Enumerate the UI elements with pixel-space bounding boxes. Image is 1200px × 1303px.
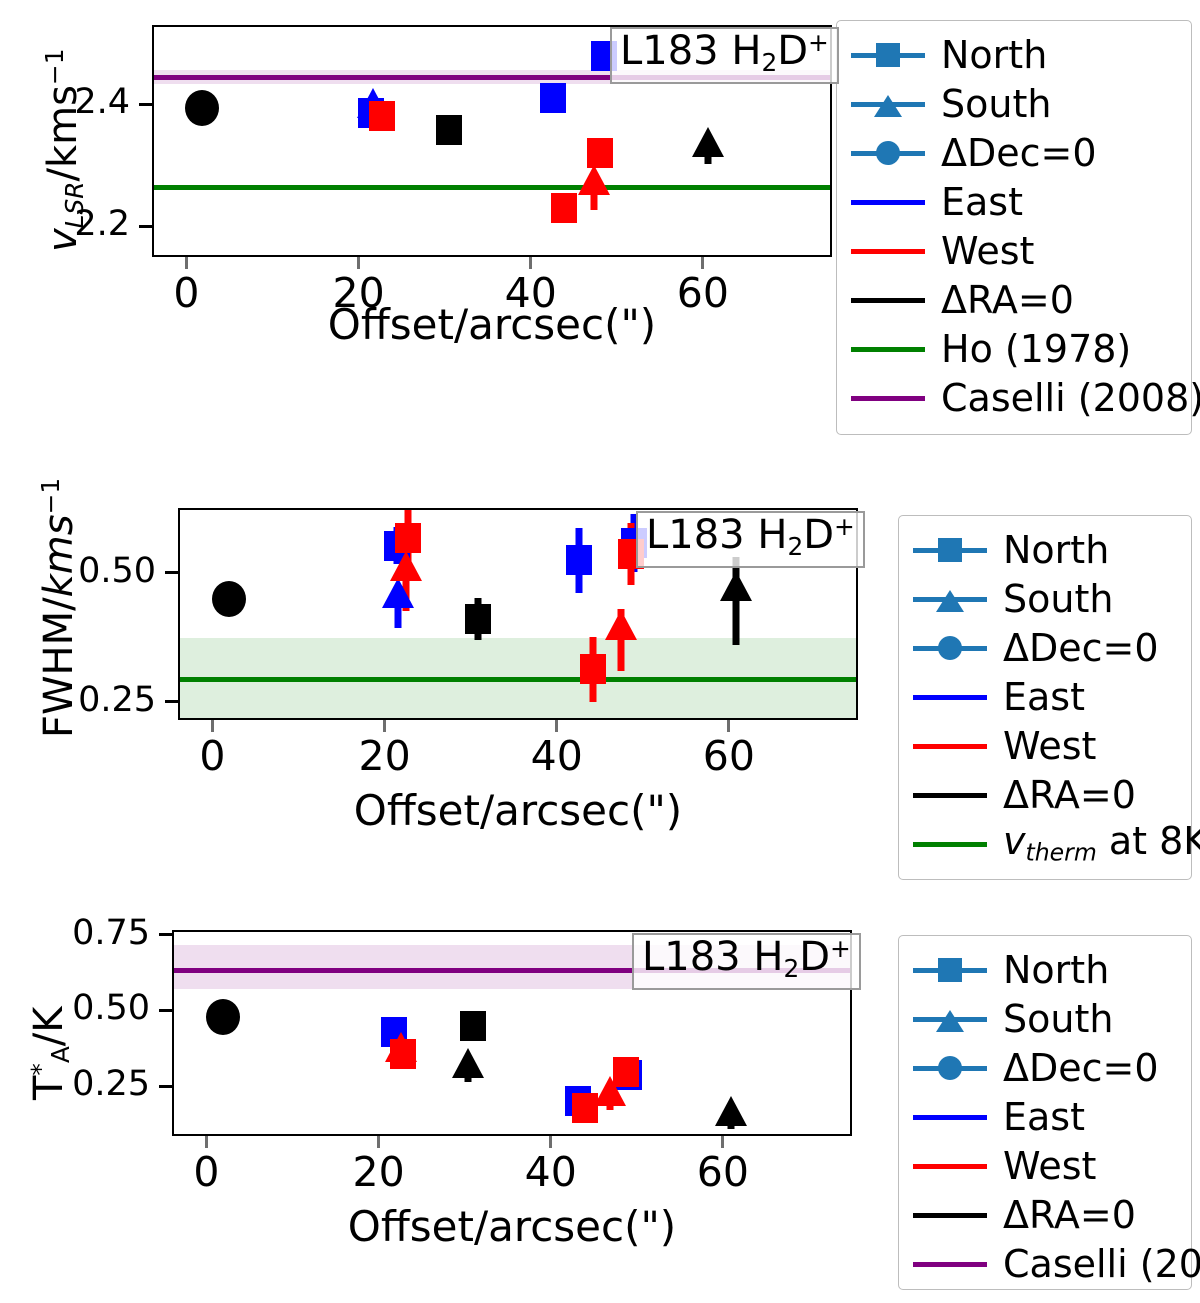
legend-label: ΔRA=0 (941, 281, 1074, 319)
legend-line-swatch (851, 347, 925, 352)
legend-key-west (913, 1151, 987, 1181)
data-point-square (580, 654, 606, 684)
legend-key-north (913, 955, 987, 985)
legend-body: NorthSouthΔDec=0EastWestΔRA=0Caselli (20… (899, 936, 1191, 1288)
legend-key--dec-0 (913, 1053, 987, 1083)
reference-line-v-therm-at-8k (180, 677, 856, 682)
legend-label: Caselli (2008) (941, 379, 1200, 417)
y-tick-mark (159, 933, 172, 936)
data-point-square (436, 115, 462, 145)
legend-label: ΔRA=0 (1003, 776, 1136, 814)
legend-line-swatch (913, 695, 987, 700)
square-marker-icon (938, 538, 962, 562)
x-tick-mark (205, 1136, 208, 1148)
legend-line-swatch (851, 396, 925, 401)
data-point-triangle (578, 165, 610, 195)
legend-line-swatch (913, 1164, 987, 1169)
legend-key-north (913, 535, 987, 565)
panel-annotation-vlsr: L183 H2D+ (610, 27, 839, 84)
x-tick-mark (555, 720, 558, 732)
x-tick-label: 60 (673, 1152, 773, 1193)
x-axis-label-vlsr: Offset/arcsec(") (152, 300, 832, 349)
legend-body: NorthSouthΔDec=0EastWestΔRA=0vtherm at 8… (899, 516, 1191, 868)
figure-root: 2.22.40204060 vLSR/kms−1 Offset/arcsec("… (0, 0, 1200, 1303)
legend-line-swatch (913, 744, 987, 749)
legend-key-east (851, 187, 925, 217)
legend-item-east[interactable]: East (837, 177, 1191, 226)
x-tick-mark (701, 257, 704, 269)
legend-line-swatch (913, 1115, 987, 1120)
legend-label: East (1003, 1098, 1085, 1136)
legend-item--dec-0[interactable]: ΔDec=0 (899, 623, 1191, 672)
legend-item-east[interactable]: East (899, 1092, 1191, 1141)
y-tick-label: 0.75 (0, 916, 150, 951)
x-tick-mark (721, 1136, 724, 1148)
legend-key-north (851, 40, 925, 70)
x-tick-label: 20 (335, 736, 435, 777)
legend-label: Caselli (2008) (1003, 1245, 1200, 1283)
x-tick-label: 20 (329, 1152, 429, 1193)
legend-label: South (1003, 1000, 1113, 1038)
x-axis-label-fwhm: Offset/arcsec(") (178, 786, 858, 835)
legend-label: East (941, 183, 1023, 221)
legend-item-west[interactable]: West (899, 721, 1191, 770)
x-tick-label: 40 (501, 1152, 601, 1193)
legend-key--ra-0 (913, 1200, 987, 1230)
legend-label: ΔRA=0 (1003, 1196, 1136, 1234)
data-point-triangle (605, 610, 637, 640)
legend-label: vtherm at 8K (1003, 822, 1200, 865)
triangle-marker-icon (874, 95, 902, 117)
legend-item--dec-0[interactable]: ΔDec=0 (837, 128, 1191, 177)
y-axis-label-fwhm: FWHM/kms−1 (36, 478, 82, 738)
legend-key-ho-1978- (851, 334, 925, 364)
legend-item-caselli-2008-[interactable]: Caselli (2008) (899, 1239, 1191, 1288)
y-tick-mark (139, 225, 152, 228)
legend-key-south (913, 1004, 987, 1034)
legend-key-caselli-2008- (913, 1249, 987, 1279)
legend-key--dec-0 (913, 633, 987, 663)
legend-item-v-therm-at-8k[interactable]: vtherm at 8K (899, 819, 1191, 868)
legend-item-ho-1978-[interactable]: Ho (1978) (837, 324, 1191, 373)
data-point-square (587, 138, 613, 168)
data-point-triangle (692, 127, 724, 157)
legend-key-south (851, 89, 925, 119)
legend-ta[interactable]: NorthSouthΔDec=0EastWestΔRA=0Caselli (20… (898, 935, 1192, 1290)
legend-label: West (941, 232, 1034, 270)
legend-label: Ho (1978) (941, 330, 1131, 368)
panel-annotation-ta: L183 H2D+ (632, 933, 861, 990)
legend-item--ra-0[interactable]: ΔRA=0 (837, 275, 1191, 324)
legend-label: West (1003, 727, 1096, 765)
data-point-circle (206, 999, 240, 1035)
y-tick-mark (139, 103, 152, 106)
x-tick-mark (549, 1136, 552, 1148)
x-tick-mark (727, 720, 730, 732)
legend-item-west[interactable]: West (899, 1141, 1191, 1190)
legend-fwhm[interactable]: NorthSouthΔDec=0EastWestΔRA=0vtherm at 8… (898, 515, 1192, 880)
legend-key-south (913, 584, 987, 614)
reference-line-ho-1978- (154, 185, 830, 190)
circle-marker-icon (938, 636, 962, 660)
legend-key-west (913, 731, 987, 761)
x-tick-mark (357, 257, 360, 269)
legend-line-swatch (913, 842, 987, 847)
panel-annotation-fwhm: L183 H2D+ (636, 511, 865, 568)
y-axis-label-vlsr: vLSR/kms−1 (40, 49, 89, 252)
data-point-square (551, 193, 577, 223)
legend-line-swatch (851, 249, 925, 254)
data-point-circle (212, 581, 246, 617)
legend-key-v-therm-at-8k (913, 829, 987, 859)
x-tick-label: 40 (507, 736, 607, 777)
data-point-square (369, 101, 395, 131)
square-marker-icon (938, 958, 962, 982)
x-tick-mark (383, 720, 386, 732)
legend-key-west (851, 236, 925, 266)
legend-line-swatch (851, 298, 925, 303)
legend-key--ra-0 (851, 285, 925, 315)
x-axis-label-ta: Offset/arcsec(") (172, 1202, 852, 1251)
legend-line-swatch (913, 793, 987, 798)
legend-label: South (1003, 580, 1113, 618)
data-point-triangle (720, 571, 752, 601)
legend-vlsr[interactable]: NorthSouthΔDec=0EastWestΔRA=0Ho (1978)Ca… (836, 20, 1192, 435)
data-point-triangle (452, 1048, 484, 1078)
x-tick-label: 60 (679, 736, 779, 777)
legend-key--dec-0 (851, 138, 925, 168)
y-tick-mark (159, 1085, 172, 1088)
y-tick-mark (159, 1009, 172, 1012)
y-tick-mark (165, 571, 178, 574)
circle-marker-icon (876, 141, 900, 165)
legend-line-swatch (851, 200, 925, 205)
legend-label: North (1003, 531, 1109, 569)
data-point-triangle (594, 1076, 626, 1106)
legend-item-north[interactable]: North (899, 525, 1191, 574)
legend-label: West (1003, 1147, 1096, 1185)
y-axis-label-ta: T*A/K (26, 1006, 75, 1100)
data-point-triangle (390, 551, 422, 581)
data-point-square (465, 604, 491, 634)
data-point-triangle (715, 1096, 747, 1126)
legend-item-east[interactable]: East (899, 672, 1191, 721)
legend-key-east (913, 1102, 987, 1132)
legend-key-caselli-2008- (851, 383, 925, 413)
legend-item-south[interactable]: South (899, 994, 1191, 1043)
x-tick-mark (211, 720, 214, 732)
data-point-triangle (382, 578, 414, 608)
y-tick-mark (165, 700, 178, 703)
legend-label: East (1003, 678, 1085, 716)
legend-item--ra-0[interactable]: ΔRA=0 (899, 1190, 1191, 1239)
data-point-square (540, 83, 566, 113)
data-point-square (460, 1011, 486, 1041)
data-point-circle (185, 90, 219, 126)
legend-item--dec-0[interactable]: ΔDec=0 (899, 1043, 1191, 1092)
legend-item-caselli-2008-[interactable]: Caselli (2008) (837, 373, 1191, 422)
data-point-triangle (385, 1032, 417, 1062)
legend-key--ra-0 (913, 780, 987, 810)
data-point-square (566, 545, 592, 575)
legend-line-swatch (913, 1262, 987, 1267)
legend-item--ra-0[interactable]: ΔRA=0 (899, 770, 1191, 819)
legend-label: North (941, 36, 1047, 74)
legend-item-north[interactable]: North (837, 30, 1191, 79)
y-tick-label: 0.25 (0, 1067, 150, 1102)
legend-label: South (941, 85, 1051, 123)
legend-body: NorthSouthΔDec=0EastWestΔRA=0Ho (1978)Ca… (837, 21, 1191, 422)
legend-item-north[interactable]: North (899, 945, 1191, 994)
square-marker-icon (876, 43, 900, 67)
legend-line-swatch (913, 1213, 987, 1218)
legend-item-west[interactable]: West (837, 226, 1191, 275)
x-tick-mark (185, 257, 188, 269)
legend-label: ΔDec=0 (1003, 1049, 1159, 1087)
triangle-marker-icon (936, 590, 964, 612)
circle-marker-icon (938, 1056, 962, 1080)
legend-label: ΔDec=0 (1003, 629, 1159, 667)
triangle-marker-icon (936, 1010, 964, 1032)
x-tick-label: 0 (156, 1152, 256, 1193)
x-tick-mark (377, 1136, 380, 1148)
legend-label: North (1003, 951, 1109, 989)
y-tick-label: 0.50 (0, 991, 150, 1026)
x-tick-mark (529, 257, 532, 269)
legend-item-south[interactable]: South (899, 574, 1191, 623)
legend-key-east (913, 682, 987, 712)
legend-label: ΔDec=0 (941, 134, 1097, 172)
x-tick-label: 0 (162, 736, 262, 777)
legend-item-south[interactable]: South (837, 79, 1191, 128)
data-point-square (395, 523, 421, 553)
